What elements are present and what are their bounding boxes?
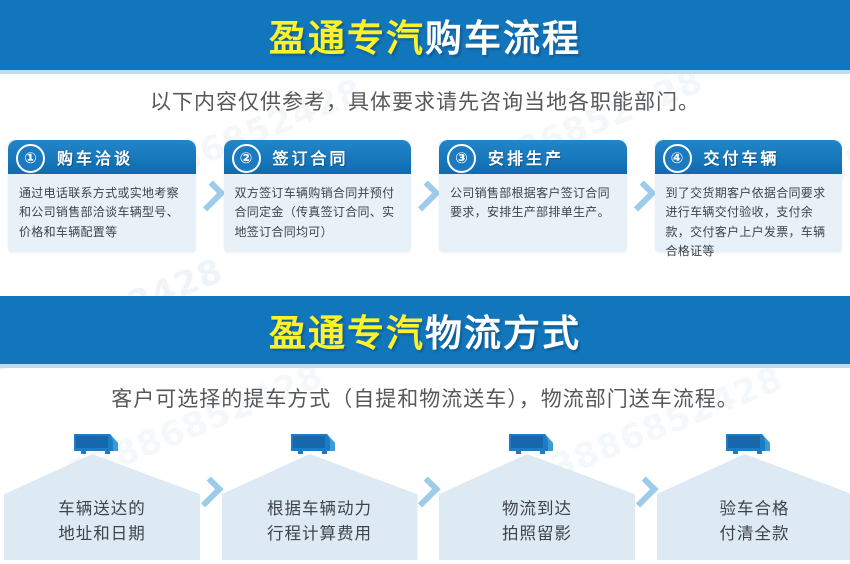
chevron-right-icon (625, 180, 656, 211)
logistics-step-line1: 车辆送达的 (4, 496, 200, 521)
step-arrow-3 (627, 140, 655, 252)
truck-icon (289, 432, 343, 458)
brand-name: 盈通专汽 (269, 312, 425, 355)
purchase-banner-title: 盈通专汽购车流程 (269, 8, 581, 62)
logistics-step-1[interactable]: 车辆送达的 地址和日期 (4, 432, 194, 560)
logistics-step-line1: 验车合格 (657, 496, 850, 521)
logistics-step-line2: 行程计算费用 (222, 521, 418, 546)
brand-name: 盈通专汽 (269, 17, 425, 60)
logistics-step-text: 车辆送达的 地址和日期 (4, 496, 200, 546)
logistics-banner-title: 盈通专汽物流方式 (269, 303, 581, 357)
step-header: ① 购车洽谈 (8, 140, 196, 174)
logistics-step-2[interactable]: 根据车辆动力 行程计算费用 (222, 432, 412, 560)
purchase-step-3[interactable]: ③ 安排生产 公司销售部根据客户签订合同要求，安排生产部排单生产。 (439, 140, 627, 252)
purchase-step-4[interactable]: ④ 交付车辆 到了交货期客户依据合同要求进行车辆交付验收，支付余款，交付客户上户… (655, 140, 843, 252)
purchase-subtitle: 以下内容仅供参考，具体要求请先咨询当地各职能部门。 (0, 86, 850, 116)
logistics-subtitle: 客户可选择的提车方式（自提和物流送车），物流部门送车流程。 (0, 383, 850, 413)
step-title: 交付车辆 (704, 145, 780, 169)
logistics-step-line1: 根据车辆动力 (222, 496, 418, 521)
promo-page: 13886852428 13886852428 13886852428 1388… (0, 0, 850, 564)
step-body: 双方签订车辆购销合同并预付合同定金（传真签订合同、实地签订合同均可） (224, 174, 412, 242)
step-header: ③ 安排生产 (439, 140, 627, 174)
step-header: ④ 交付车辆 (655, 140, 843, 174)
step-title: 安排生产 (488, 145, 564, 169)
step-number-badge: ① (16, 144, 45, 173)
purchase-step-1[interactable]: ① 购车洽谈 通过电话联系方式或实地考察和公司销售部洽谈车辆型号、价格和车辆配置… (8, 140, 196, 252)
logistics-step-line2: 地址和日期 (4, 521, 200, 546)
purchase-steps: ① 购车洽谈 通过电话联系方式或实地考察和公司销售部洽谈车辆型号、价格和车辆配置… (8, 140, 842, 256)
purchase-step-2[interactable]: ② 签订合同 双方签订车辆购销合同并预付合同定金（传真签订合同、实地签订合同均可… (224, 140, 412, 252)
logistics-steps: 车辆送达的 地址和日期 根据车辆动力 行程计算费用 (4, 432, 846, 560)
step-number-badge: ② (232, 144, 261, 173)
step-title: 签订合同 (273, 145, 349, 169)
step-title: 购车洽谈 (57, 145, 133, 169)
logistics-step-3[interactable]: 物流到达 拍照留影 (439, 432, 629, 560)
logistics-step-4[interactable]: 验车合格 付清全款 (657, 432, 847, 560)
step-body: 通过电话联系方式或实地考察和公司销售部洽谈车辆型号、价格和车辆配置等 (8, 174, 196, 242)
truck-icon (72, 432, 126, 458)
purchase-banner: 盈通专汽购车流程 (0, 0, 850, 74)
step-arrow-2 (411, 140, 439, 252)
logistics-banner: 盈通专汽物流方式 (0, 296, 850, 368)
chevron-right-icon (194, 180, 225, 211)
step-number-badge: ④ (663, 144, 692, 173)
logistics-step-line2: 付清全款 (657, 521, 850, 546)
step-body: 公司销售部根据客户签订合同要求，安排生产部排单生产。 (439, 174, 627, 223)
chevron-right-icon (409, 180, 440, 211)
logistics-step-text: 物流到达 拍照留影 (439, 496, 635, 546)
truck-icon (507, 432, 561, 458)
logistics-step-line1: 物流到达 (439, 496, 635, 521)
logistics-banner-subject: 物流方式 (425, 312, 581, 355)
step-header: ② 签订合同 (224, 140, 412, 174)
step-number-badge: ③ (447, 144, 476, 173)
purchase-banner-subject: 购车流程 (425, 17, 581, 60)
step-arrow-1 (196, 140, 224, 252)
logistics-step-line2: 拍照留影 (439, 521, 635, 546)
logistics-step-text: 根据车辆动力 行程计算费用 (222, 496, 418, 546)
truck-icon (724, 432, 778, 458)
logistics-step-text: 验车合格 付清全款 (657, 496, 850, 546)
step-body: 到了交货期客户依据合同要求进行车辆交付验收，支付余款，交付客户上户发票，车辆合格… (655, 174, 843, 262)
